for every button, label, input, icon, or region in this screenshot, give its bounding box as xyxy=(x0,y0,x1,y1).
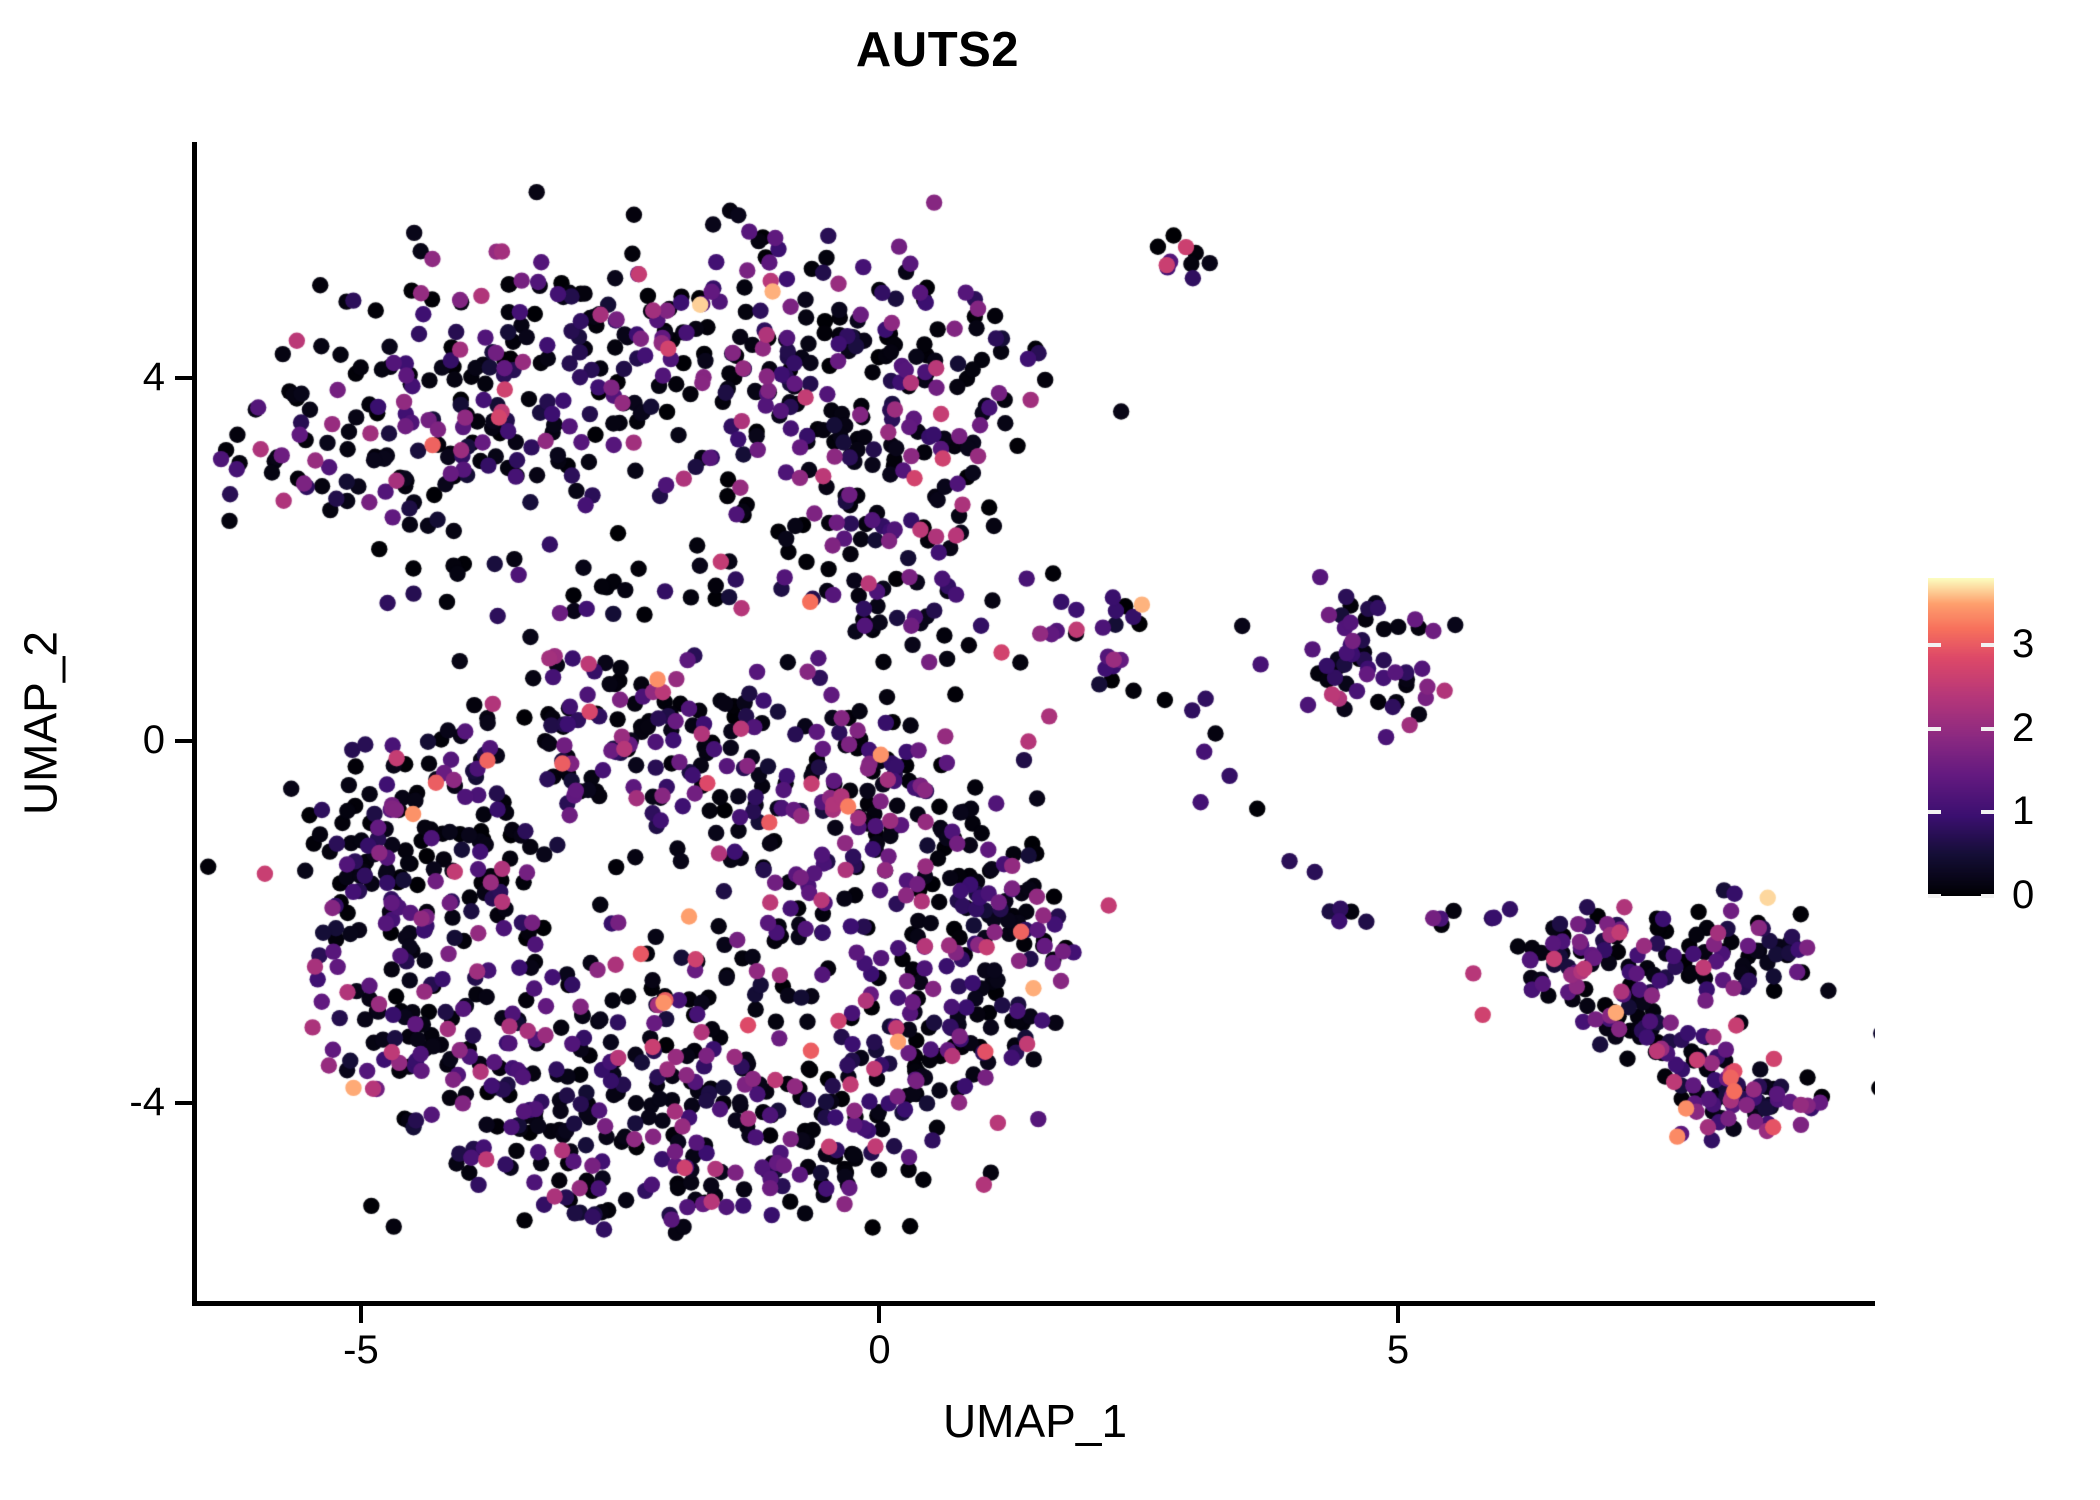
colorbar-tick-mark xyxy=(1981,643,1994,647)
colorbar-tick-label: 0 xyxy=(2012,875,2034,915)
x-axis-line xyxy=(192,1301,1875,1306)
x-tick-mark xyxy=(359,1306,363,1323)
x-tick-mark xyxy=(877,1306,881,1323)
y-axis-line xyxy=(192,142,197,1306)
x-tick-label: -5 xyxy=(301,1330,421,1370)
x-tick-label: 5 xyxy=(1338,1330,1458,1370)
colorbar-tick-mark xyxy=(1981,894,1994,898)
colorbar-legend xyxy=(1928,578,1994,896)
y-tick-mark xyxy=(175,1101,192,1105)
colorbar-gradient xyxy=(1928,578,1994,896)
y-axis-title: UMAP_2 xyxy=(18,143,64,1304)
colorbar-tick-mark xyxy=(1928,727,1941,731)
page-title: AUTS2 xyxy=(0,26,1875,75)
colorbar-tick-mark xyxy=(1928,894,1941,898)
x-axis-title: UMAP_1 xyxy=(195,1398,1875,1444)
colorbar-tick-label: 3 xyxy=(2012,624,2034,664)
colorbar-tick-mark xyxy=(1981,810,1994,814)
colorbar-tick-mark xyxy=(1981,727,1994,731)
colorbar-tick-label: 1 xyxy=(2012,791,2034,831)
y-tick-mark xyxy=(175,376,192,380)
colorbar-tick-label: 2 xyxy=(2012,708,2034,748)
y-tick-label: -4 xyxy=(60,1082,165,1122)
y-tick-label: 0 xyxy=(60,720,165,760)
x-tick-mark xyxy=(1396,1306,1400,1323)
figure-root: AUTS2 -404 -505 UMAP_1 UMAP_2 0123 xyxy=(0,0,2100,1500)
scatter-plot-canvas xyxy=(195,142,1875,1303)
plot-panel xyxy=(195,142,1875,1303)
colorbar-tick-mark xyxy=(1928,810,1941,814)
x-tick-label: 0 xyxy=(819,1330,939,1370)
y-tick-label: 4 xyxy=(60,357,165,397)
colorbar-tick-mark xyxy=(1928,643,1941,647)
y-tick-mark xyxy=(175,739,192,743)
